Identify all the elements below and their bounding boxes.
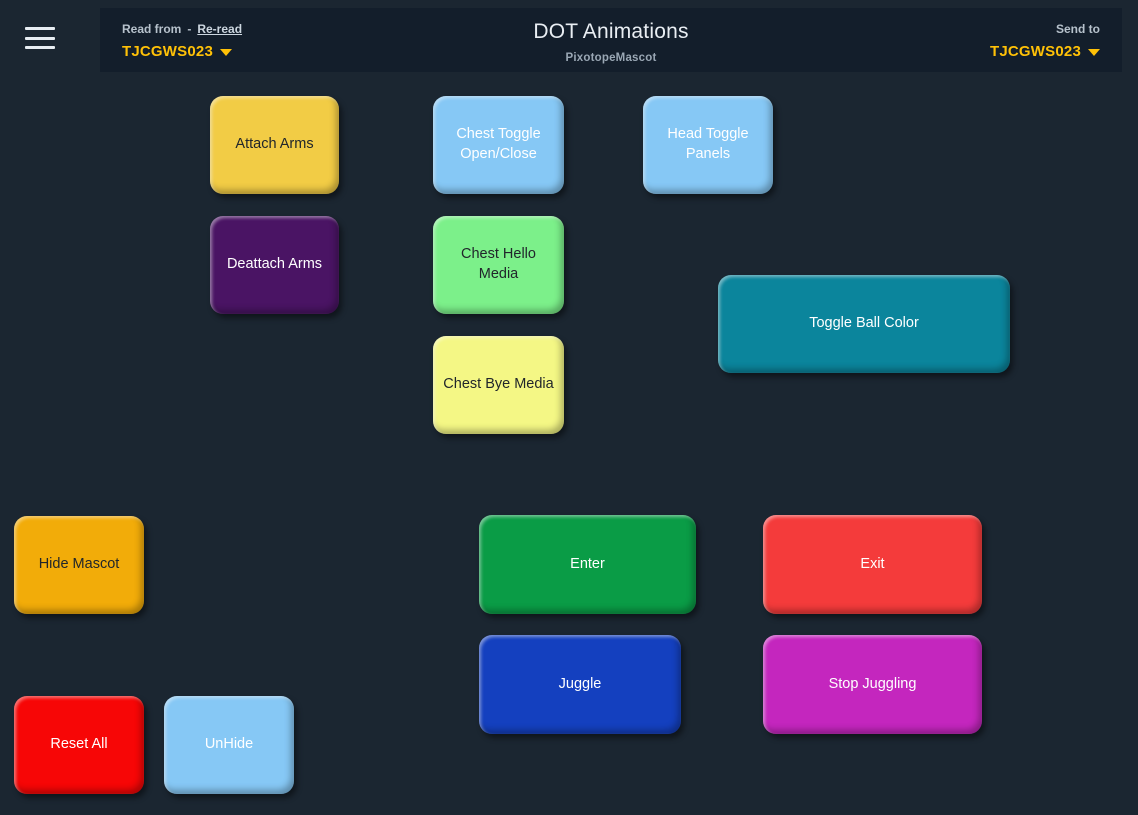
hide-mascot-button[interactable]: Hide Mascot [14, 516, 144, 614]
send-to-dropdown[interactable]: TJCGWS023 [990, 43, 1100, 60]
attach-arms-button[interactable]: Attach Arms [210, 96, 339, 194]
reset-all-button[interactable]: Reset All [14, 696, 144, 794]
hamburger-bar-2 [25, 37, 55, 40]
read-from-row: Read from - Re-read [122, 22, 242, 36]
chest-toggle-open-close-button[interactable]: Chest Toggle Open/Close [433, 96, 564, 194]
deattach-arms-button[interactable]: Deattach Arms [210, 216, 339, 314]
stop-juggling-button[interactable]: Stop Juggling [763, 635, 982, 734]
chevron-down-icon [220, 49, 232, 56]
send-to-value: TJCGWS023 [990, 43, 1081, 60]
juggle-button[interactable]: Juggle [479, 635, 681, 734]
header-title-group: DOT Animations PixotopeMascot [100, 20, 1122, 64]
hamburger-bar-3 [25, 46, 55, 49]
re-read-link[interactable]: Re-read [197, 22, 242, 36]
head-toggle-panels-button[interactable]: Head Toggle Panels [643, 96, 773, 194]
read-from-dropdown[interactable]: TJCGWS023 [122, 43, 242, 60]
page-subtitle: PixotopeMascot [566, 52, 657, 64]
header-bar: Read from - Re-read TJCGWS023 DOT Animat… [100, 8, 1122, 72]
read-from-value: TJCGWS023 [122, 43, 213, 60]
hamburger-bar-1 [25, 27, 55, 30]
send-to-group: Send to TJCGWS023 [990, 22, 1100, 60]
send-to-label: Send to [1056, 22, 1100, 36]
send-to-row: Send to [1056, 22, 1100, 36]
read-from-dash: - [187, 22, 191, 36]
toggle-ball-color-button[interactable]: Toggle Ball Color [718, 275, 1010, 373]
enter-button[interactable]: Enter [479, 515, 696, 614]
chest-hello-media-button[interactable]: Chest Hello Media [433, 216, 564, 314]
read-from-label: Read from [122, 22, 181, 36]
page-title: DOT Animations [533, 20, 688, 44]
hamburger-menu-icon[interactable] [25, 24, 55, 52]
read-from-group: Read from - Re-read TJCGWS023 [122, 22, 242, 60]
unhide-button[interactable]: UnHide [164, 696, 294, 794]
chevron-down-icon [1088, 49, 1100, 56]
chest-bye-media-button[interactable]: Chest Bye Media [433, 336, 564, 434]
exit-button[interactable]: Exit [763, 515, 982, 614]
